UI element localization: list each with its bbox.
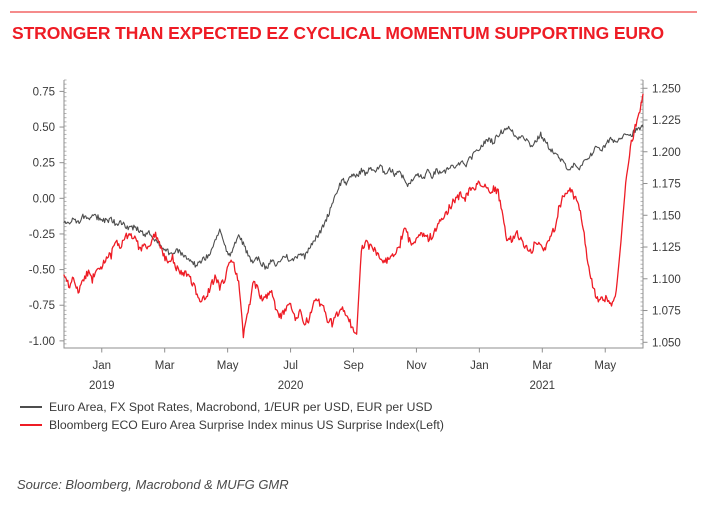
- legend-item-eurusd: Euro Area, FX Spot Rates, Macrobond, 1/E…: [20, 398, 620, 416]
- y-axis-left-labels: 0.750.500.250.00-0.25-0.50-0.75-1.00: [29, 86, 55, 347]
- y-axis-right-labels: 1.2501.2251.2001.1751.1501.1251.1001.075…: [652, 83, 681, 349]
- x-tick-label: Jan: [92, 360, 111, 372]
- axis-frame: [64, 80, 643, 348]
- chart-series-group: [64, 94, 643, 337]
- x-tick-label: Jul: [283, 360, 298, 372]
- y-left-tick-label: -0.25: [29, 229, 55, 241]
- x-tick-label: Jan: [470, 360, 489, 372]
- x-year-label: 2019: [89, 380, 115, 392]
- x-axis-year-labels: 201920202021: [89, 380, 555, 392]
- legend-label-eurusd: Euro Area, FX Spot Rates, Macrobond, 1/E…: [49, 400, 432, 414]
- y-right-tick-label: 1.175: [652, 179, 681, 191]
- y-right-tick-label: 1.075: [652, 306, 681, 318]
- chart-legend: Euro Area, FX Spot Rates, Macrobond, 1/E…: [20, 398, 620, 434]
- x-tick-label: Mar: [532, 360, 552, 372]
- x-tick-label: Nov: [406, 360, 427, 372]
- series-line-surprise-index: [64, 94, 643, 337]
- y-left-tick-label: 0.50: [33, 122, 55, 134]
- chart-svg: 0.750.500.250.00-0.25-0.50-0.75-1.00 1.2…: [0, 0, 709, 400]
- source-note: Source: Bloomberg, Macrobond & MUFG GMR: [17, 477, 289, 492]
- y-left-tick-label: 0.00: [33, 193, 55, 205]
- x-tick-label: Mar: [155, 360, 175, 372]
- chart-plot-area: 0.750.500.250.00-0.25-0.50-0.75-1.00 1.2…: [0, 0, 709, 400]
- x-year-label: 2021: [530, 380, 556, 392]
- y-right-tick-label: 1.100: [652, 274, 681, 286]
- series-line-eurusd: [64, 125, 643, 269]
- y-left-tick-label: -1.00: [29, 336, 55, 348]
- axis-ticks: [60, 88, 648, 352]
- y-left-tick-label: 0.25: [33, 158, 55, 170]
- y-right-tick-label: 1.125: [652, 242, 681, 254]
- x-axis-labels: JanMarMayJulSepNovJanMarMay: [92, 360, 616, 372]
- y-right-tick-label: 1.225: [652, 115, 681, 127]
- x-year-label: 2020: [278, 380, 304, 392]
- legend-label-surprise-index: Bloomberg ECO Euro Area Surprise Index m…: [49, 418, 444, 432]
- x-tick-label: May: [594, 360, 616, 372]
- axis-minor-ticks: [64, 80, 643, 348]
- y-left-tick-label: 0.75: [33, 86, 55, 98]
- y-left-tick-label: -0.75: [29, 300, 55, 312]
- line-swatch-gray-icon: [20, 406, 42, 408]
- y-right-tick-label: 1.050: [652, 337, 681, 349]
- x-tick-label: May: [217, 360, 239, 372]
- y-right-tick-label: 1.250: [652, 83, 681, 95]
- legend-item-surprise-index: Bloomberg ECO Euro Area Surprise Index m…: [20, 416, 620, 434]
- chart-page: STRONGER THAN EXPECTED EZ CYCLICAL MOMEN…: [0, 0, 709, 506]
- line-swatch-red-icon: [20, 424, 42, 426]
- x-tick-label: Sep: [343, 360, 363, 372]
- y-left-tick-label: -0.50: [29, 265, 55, 277]
- y-right-tick-label: 1.150: [652, 210, 681, 222]
- y-right-tick-label: 1.200: [652, 147, 681, 159]
